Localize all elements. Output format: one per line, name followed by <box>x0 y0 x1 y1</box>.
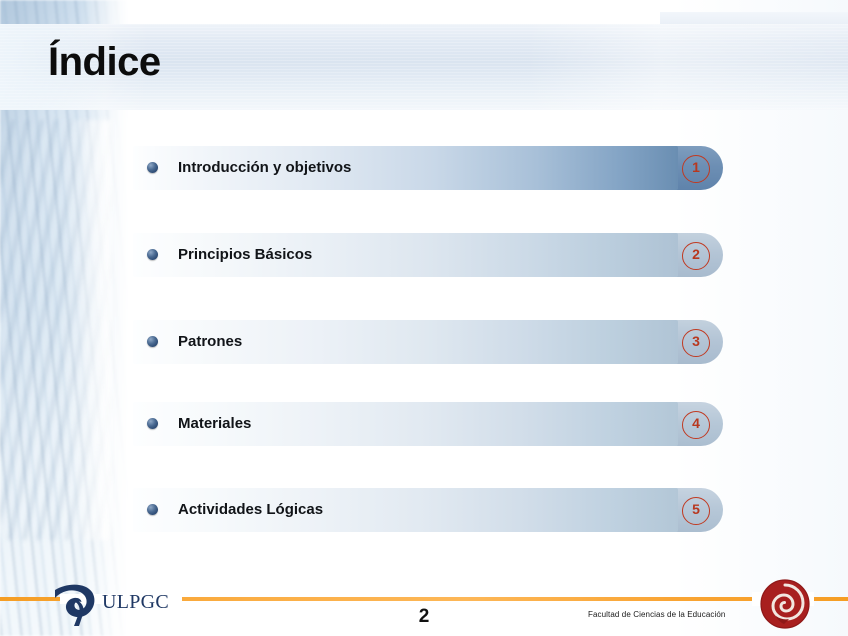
index-number-badge: 4 <box>682 411 710 439</box>
blue-sphere-bullet-icon <box>147 336 158 347</box>
page-title: Índice <box>48 42 161 82</box>
background-photo-overlay <box>0 120 112 540</box>
index-item-label: Materiales <box>178 402 251 446</box>
title-banner-step <box>660 12 848 24</box>
index-number-badge: 3 <box>682 329 710 357</box>
blue-sphere-bullet-icon <box>147 418 158 429</box>
blue-sphere-bullet-icon <box>147 249 158 260</box>
index-number-badge: 2 <box>682 242 710 270</box>
index-item-label: Patrones <box>178 320 242 364</box>
index-item-label: Principios Básicos <box>178 233 312 277</box>
slide-canvas: Índice Introducción y objetivos 1 Princi… <box>0 0 848 636</box>
red-spiral-seal-icon <box>760 578 810 630</box>
index-item-label: Introducción y objetivos <box>178 146 351 190</box>
blue-sphere-bullet-icon <box>147 162 158 173</box>
index-item-label: Actividades Lógicas <box>178 488 323 532</box>
index-number-badge: 1 <box>682 155 710 183</box>
faculty-label: Facultad de Ciencias de la Educación <box>588 610 725 619</box>
blue-sphere-bullet-icon <box>147 504 158 515</box>
index-number-badge: 5 <box>682 497 710 525</box>
